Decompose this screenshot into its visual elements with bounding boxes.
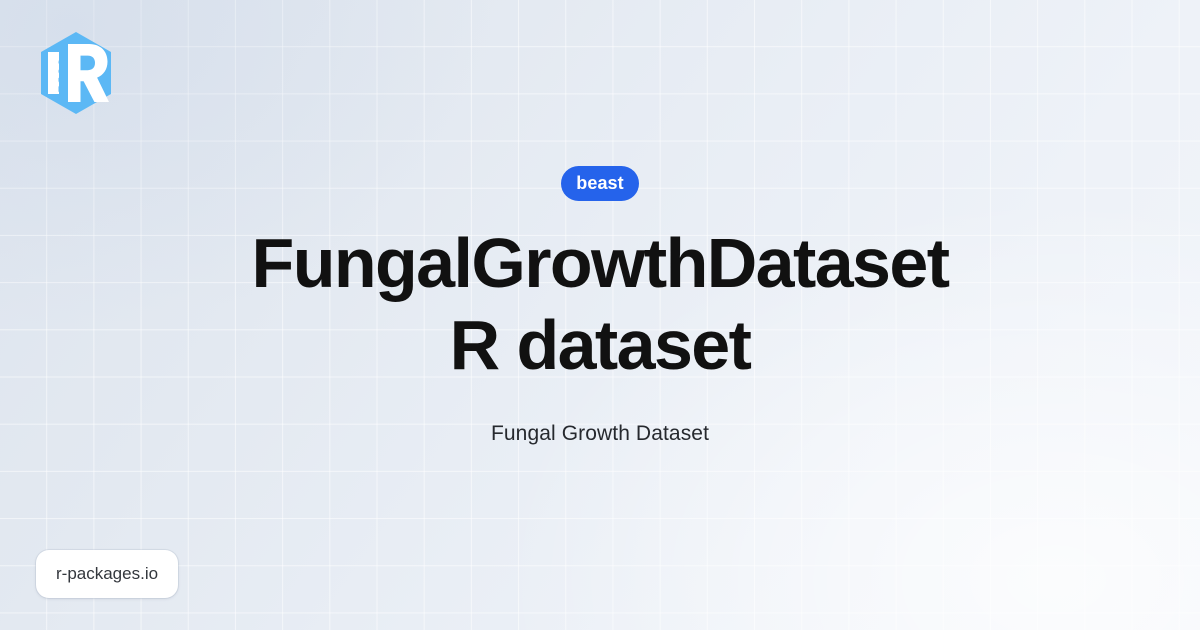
page-title: FungalGrowthDataset R dataset (252, 223, 949, 385)
site-domain-badge[interactable]: r-packages.io (36, 550, 178, 598)
page-title-line-1: FungalGrowthDataset (252, 224, 949, 302)
hero-content: beast FungalGrowthDataset R dataset Fung… (0, 0, 1200, 630)
page-title-line-2: R dataset (450, 306, 751, 384)
page-subtitle: Fungal Growth Dataset (491, 422, 709, 446)
package-name-badge: beast (561, 166, 639, 201)
og-card: C O D E R beast FungalGrowthDataset R da… (0, 0, 1200, 630)
